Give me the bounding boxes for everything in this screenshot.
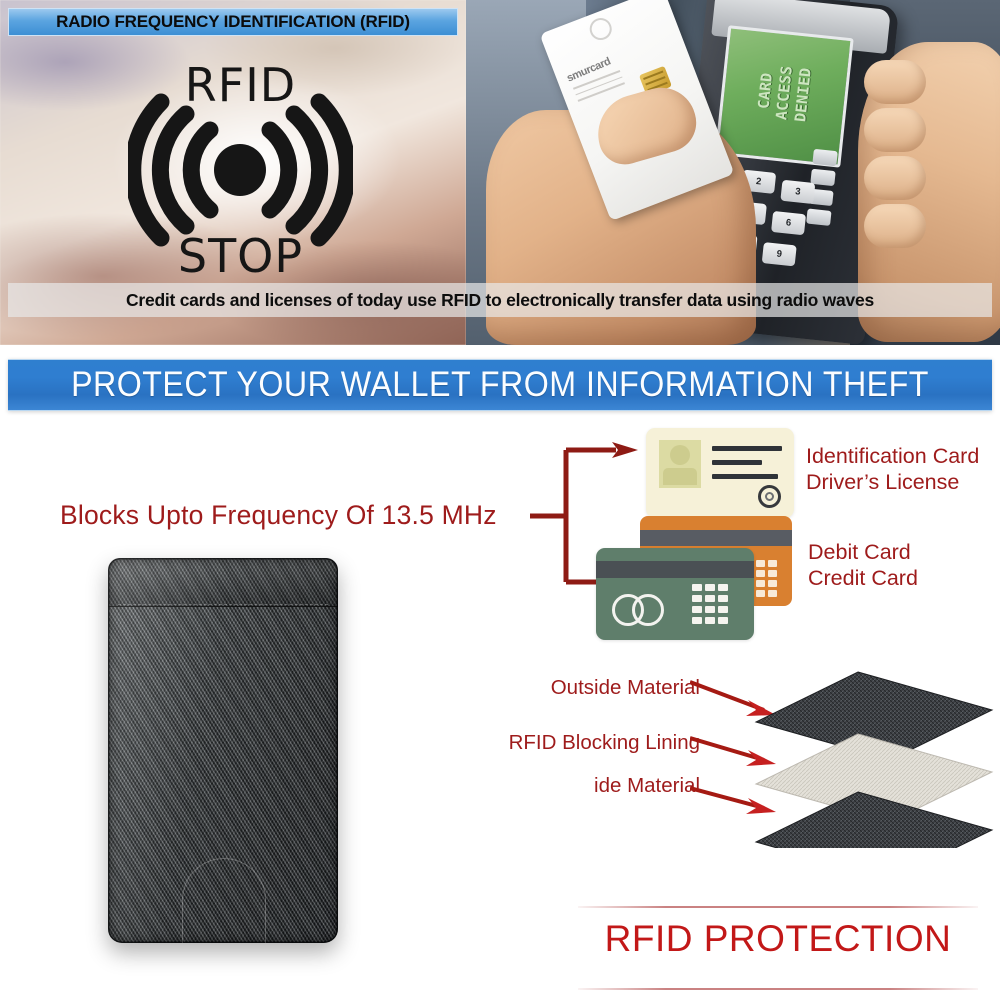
pos-terminal-screen: CARD ACCESS DENIED	[715, 25, 854, 167]
rfid-caption-text: Credit cards and licenses of today use R…	[8, 283, 992, 317]
identification-card-graphic	[646, 428, 794, 518]
layer-label-rfid-blocking-lining: RFID Blocking Lining	[380, 731, 700, 755]
layer-label-inside-material: ide Material	[380, 774, 700, 798]
carbon-fiber-wallet-product	[108, 558, 338, 943]
debit-label-line-1: Debit Card	[808, 540, 918, 566]
footer-title: RFID PROTECTION	[578, 918, 978, 960]
pos-screen-text: CARD ACCESS DENIED	[748, 25, 821, 167]
debit-card-label: Debit Card Credit Card	[808, 540, 918, 591]
rfid-caption-bar: Credit cards and licenses of today use R…	[8, 283, 992, 317]
wallet-flap	[108, 558, 338, 607]
footer-rule-top	[578, 906, 978, 908]
layer-label-outside-material: Outside Material	[380, 676, 700, 700]
card-stack-graphic	[596, 428, 826, 630]
rfid-info-panel: RADIO FREQUENCY IDENTIFICATION (RFID) RF…	[0, 0, 1000, 345]
magnetic-stripe	[640, 530, 792, 546]
card-number-grid	[692, 584, 736, 630]
panel-header-title: RADIO FREQUENCY IDENTIFICATION (RFID)	[9, 9, 457, 35]
rfid-stop-logo: RFID STOP	[128, 62, 353, 277]
protect-wallet-banner: PROTECT YOUR WALLET FROM INFORMATION THE…	[8, 359, 992, 411]
identification-card-label: Identification Card Driver’s License	[806, 444, 979, 495]
banner-section: PROTECT YOUR WALLET FROM INFORMATION THE…	[0, 345, 1000, 420]
layer-inside	[756, 792, 992, 848]
card-network-logo	[612, 594, 664, 628]
footer-rule-bottom	[578, 988, 978, 990]
pos-key-6: 6	[771, 211, 806, 235]
pos-key-9: 9	[762, 242, 797, 266]
rfid-logo-bottom-word: STOP	[128, 229, 353, 283]
debit-label-line-2: Credit Card	[808, 566, 918, 592]
wallet-stitch-seam	[118, 604, 328, 607]
id-label-line-1: Identification Card	[806, 444, 979, 470]
id-label-line-2: Driver’s License	[806, 470, 979, 496]
banner-text: PROTECT YOUR WALLET FROM INFORMATION THE…	[47, 360, 952, 410]
card-ring-mark	[587, 15, 615, 43]
frequency-claim-label: Blocks Upto Frequency Of 13.5 MHz	[60, 500, 530, 531]
id-hologram-seal	[758, 485, 781, 508]
id-photo-placeholder	[659, 440, 701, 488]
pos-key-3: 3	[780, 180, 815, 204]
material-layer-stack	[742, 668, 1000, 848]
panel-header-bar: RADIO FREQUENCY IDENTIFICATION (RFID)	[8, 8, 458, 36]
wallet-thumb-notch	[182, 858, 266, 943]
magnetic-stripe	[596, 561, 754, 578]
rfid-protection-footer: RFID PROTECTION	[578, 906, 978, 992]
debit-card-graphic-green	[596, 548, 754, 640]
